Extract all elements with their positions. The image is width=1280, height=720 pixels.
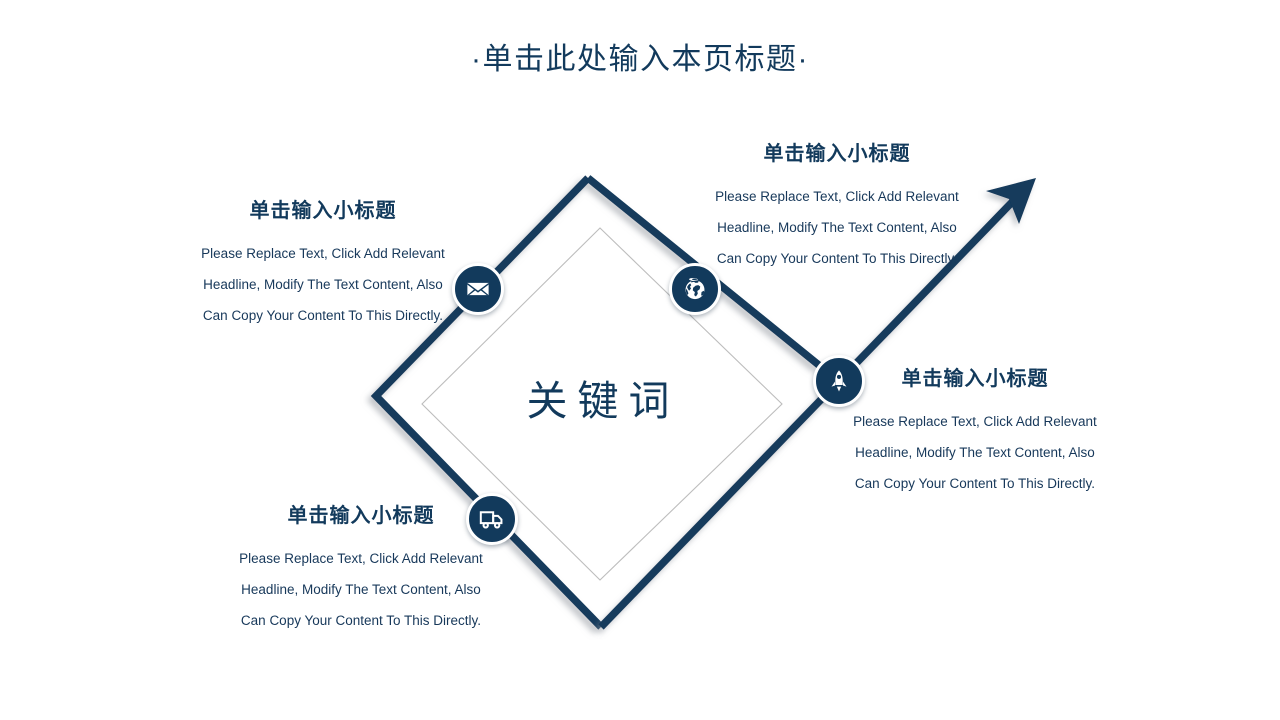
callout-body-line: Can Copy Your Content To This Directly.: [241, 613, 481, 628]
callout-title: 单击输入小标题: [220, 499, 502, 528]
callout-body-line: Headline, Modify The Text Content, Also: [203, 277, 443, 292]
callout-body-line: Please Replace Text, Click Add Relevant: [715, 189, 959, 204]
callout-globe: 单击输入小标题 Please Replace Text, Click Add R…: [696, 137, 978, 274]
callout-body-line: Please Replace Text, Click Add Relevant: [201, 246, 445, 261]
diamond-diagram: [0, 0, 1280, 720]
callout-truck: 单击输入小标题 Please Replace Text, Click Add R…: [220, 499, 502, 636]
callout-body-line: Headline, Modify The Text Content, Also: [855, 445, 1095, 460]
callout-title: 单击输入小标题: [834, 362, 1116, 391]
callout-body: Please Replace Text, Click Add Relevant …: [834, 407, 1116, 499]
callout-body: Please Replace Text, Click Add Relevant …: [696, 182, 978, 274]
globe-icon: [681, 275, 709, 303]
envelope-icon: [465, 276, 491, 302]
callout-title: 单击输入小标题: [182, 194, 464, 223]
callout-title: 单击输入小标题: [696, 137, 978, 166]
callout-body-line: Can Copy Your Content To This Directly.: [203, 308, 443, 323]
slide-canvas: ·单击此处输入本页标题· 关键词: [0, 0, 1280, 720]
callout-body-line: Headline, Modify The Text Content, Also: [241, 582, 481, 597]
callout-body-line: Please Replace Text, Click Add Relevant: [853, 414, 1097, 429]
callout-body: Please Replace Text, Click Add Relevant …: [182, 239, 464, 331]
callout-rocket: 单击输入小标题 Please Replace Text, Click Add R…: [834, 362, 1116, 499]
callout-body-line: Can Copy Your Content To This Directly.: [855, 476, 1095, 491]
callout-body-line: Please Replace Text, Click Add Relevant: [239, 551, 483, 566]
callout-body-line: Headline, Modify The Text Content, Also: [717, 220, 957, 235]
callout-body-line: Can Copy Your Content To This Directly.: [717, 251, 957, 266]
callout-body: Please Replace Text, Click Add Relevant …: [220, 544, 502, 636]
callout-mail: 单击输入小标题 Please Replace Text, Click Add R…: [182, 194, 464, 331]
center-keyword: 关键词: [418, 367, 778, 427]
